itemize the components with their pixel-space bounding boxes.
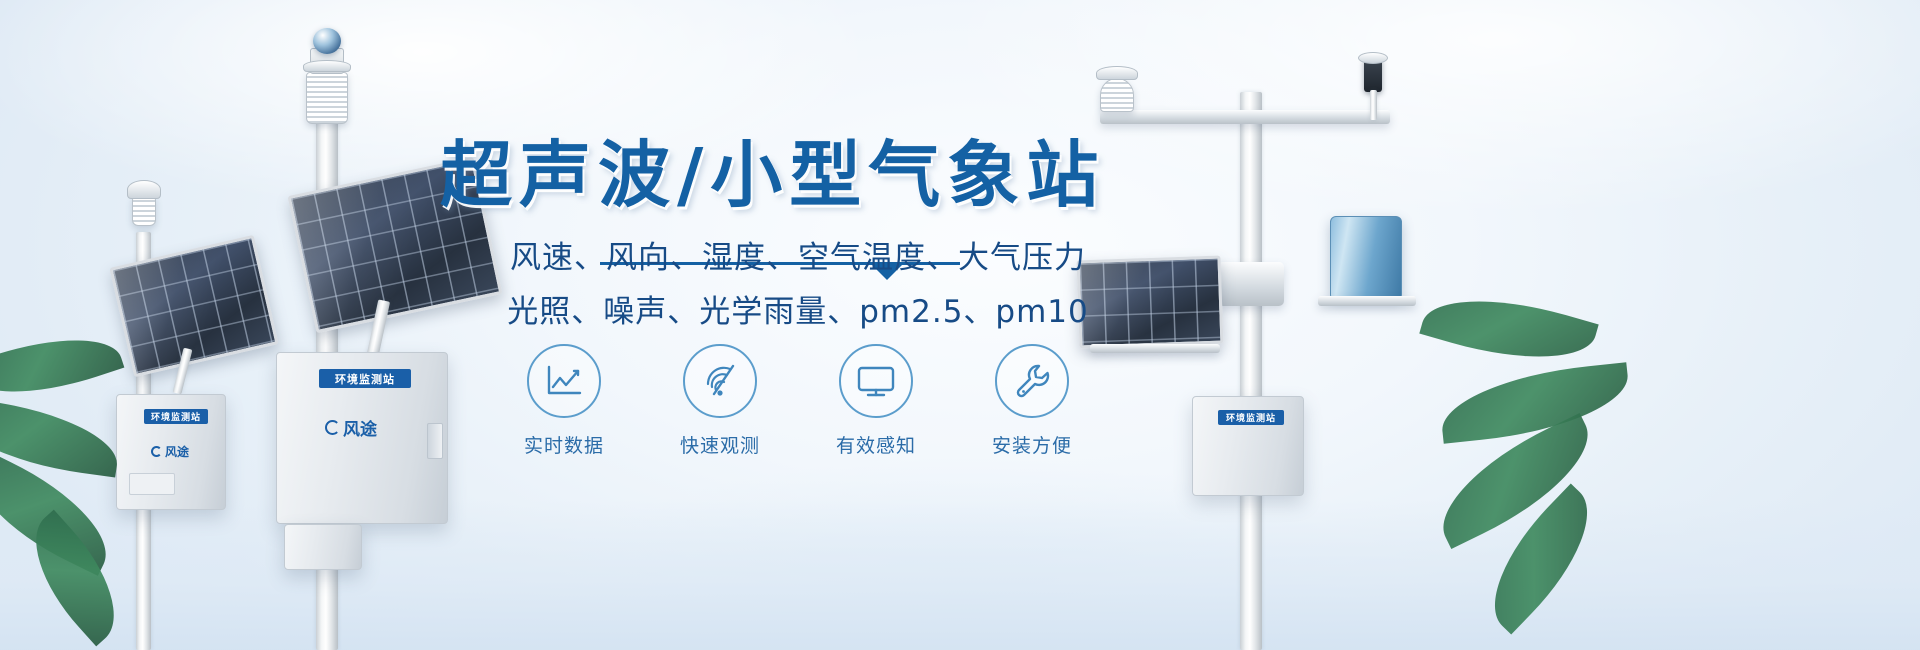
feature-label: 安装方便 <box>992 431 1072 458</box>
monitor-screen-icon <box>839 344 913 418</box>
feature-item-fast-observation[interactable]: 快速观测 <box>659 344 781 458</box>
feature-label: 实时数据 <box>524 431 604 458</box>
product-banner: 环境监测站 风途 环境监测站 风途 <box>0 0 1920 650</box>
feature-label: 快速观测 <box>680 431 760 458</box>
feature-list: 实时数据 快速观测 <box>448 344 1148 458</box>
radar-signal-icon <box>683 344 757 418</box>
wrench-tool-icon <box>995 344 1069 418</box>
subtitle-line-1: 风速、风向、湿度、空气温度、大气压力 <box>448 232 1148 277</box>
line-chart-icon <box>527 344 601 418</box>
feature-item-effective-sensing[interactable]: 有效感知 <box>815 344 937 458</box>
banner-title: 超声波/小型气象站 <box>440 116 1130 221</box>
subtitle-line-2: 光照、噪声、光学雨量、pm2.5、pm10 <box>448 286 1148 331</box>
banner-text-block: 超声波/小型气象站 风速、风向、湿度、空气温度、大气压力 光照、噪声、光学雨量、… <box>0 0 1920 650</box>
feature-label: 有效感知 <box>836 431 916 458</box>
feature-item-easy-installation[interactable]: 安装方便 <box>971 344 1093 458</box>
feature-item-realtime-data[interactable]: 实时数据 <box>503 344 625 458</box>
